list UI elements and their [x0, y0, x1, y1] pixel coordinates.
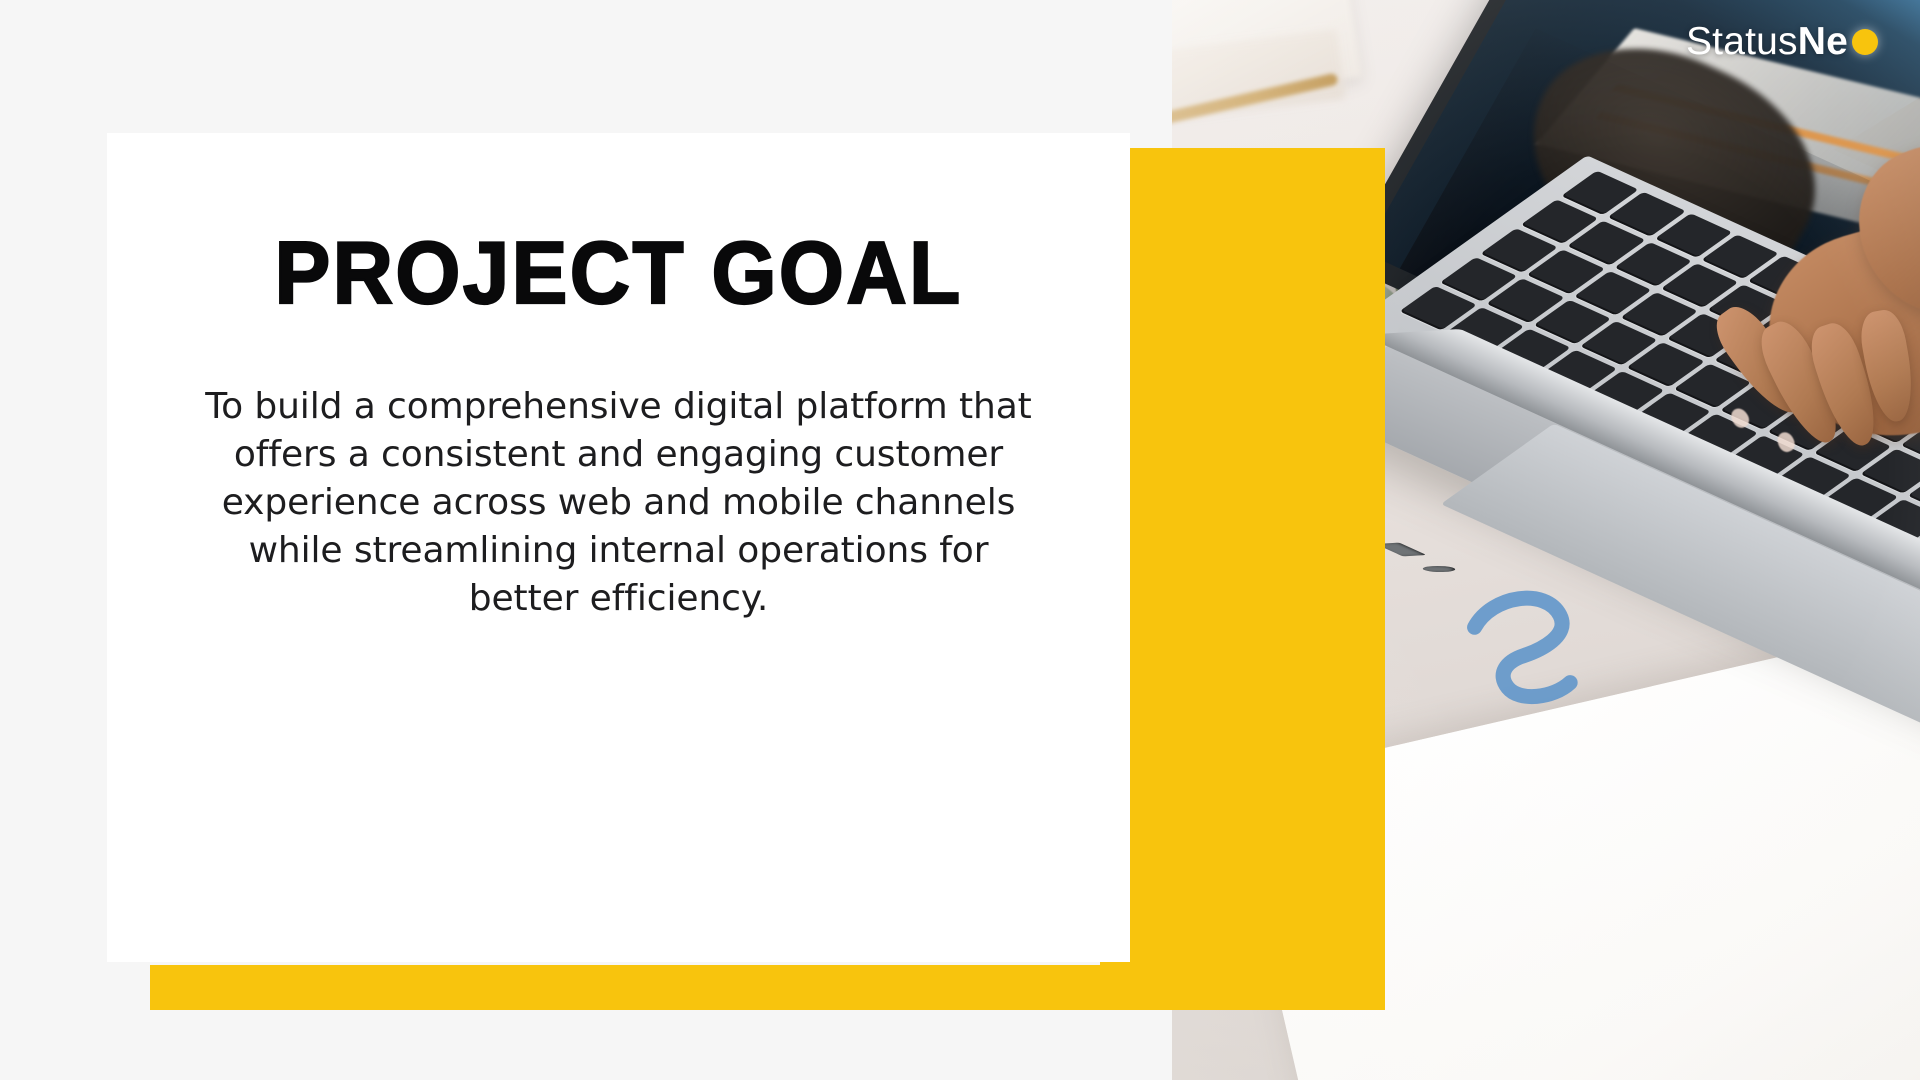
accent-bar-right — [1100, 148, 1385, 1010]
logo-text-neo: Ne — [1798, 20, 1848, 64]
laptop-headphone-jack-icon — [1418, 565, 1461, 573]
logo-text-status: Status — [1686, 20, 1798, 64]
slide-canvas: StatusNe o PROJECT GOAL To build a compr… — [0, 0, 1920, 1080]
statusneo-logo: StatusNe o — [1686, 20, 1878, 64]
body-line: To build a comprehensive digital platfor… — [203, 383, 1034, 431]
body-line: better efficiency. — [203, 575, 1034, 623]
logo-dot-icon — [1852, 29, 1878, 55]
body-paragraph: To build a comprehensive digital platfor… — [203, 383, 1034, 623]
body-line: offers a consistent and engaging custome… — [203, 431, 1034, 479]
body-line: experience across web and mobile channel… — [203, 479, 1034, 527]
body-line: while streamlining internal operations f… — [203, 527, 1034, 575]
page-title: PROJECT GOAL — [133, 229, 1105, 317]
accent-bar-bottom — [150, 965, 1385, 1010]
content-card: PROJECT GOAL To build a comprehensive di… — [107, 133, 1130, 962]
